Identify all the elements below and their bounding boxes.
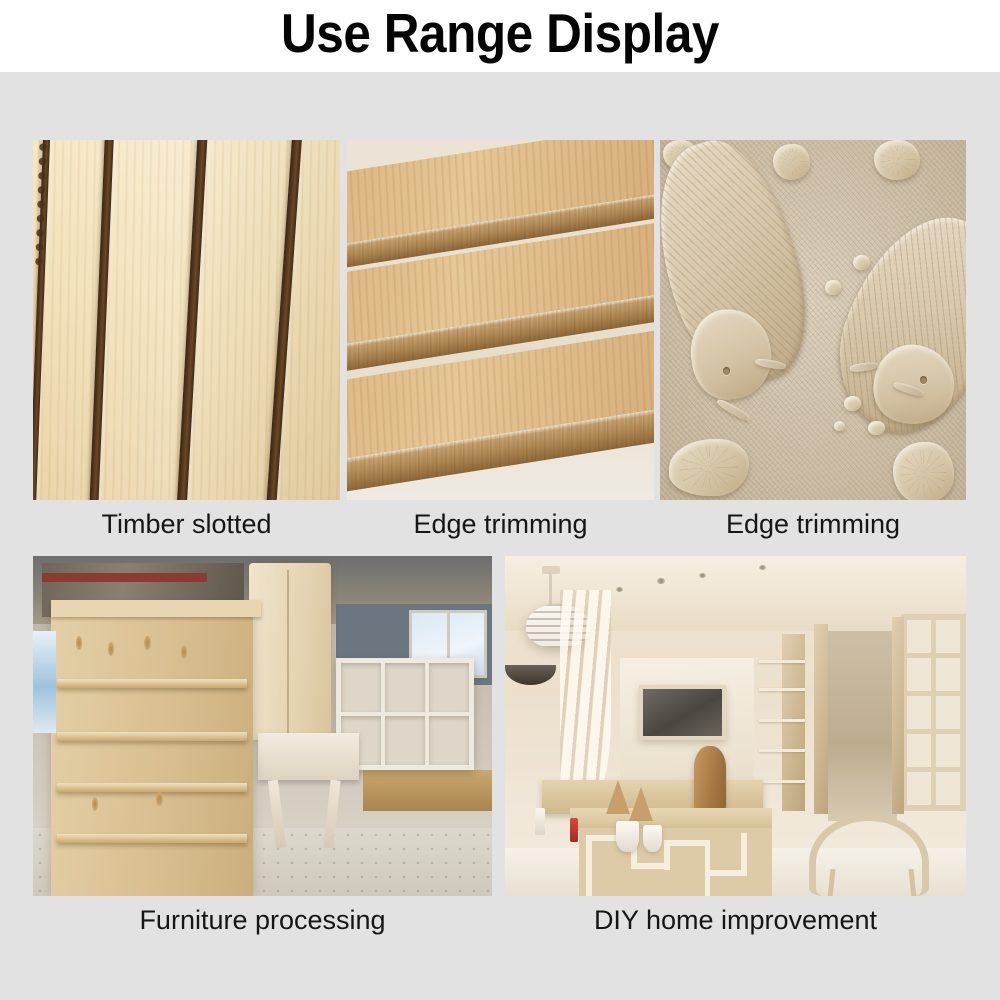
lattice-pane bbox=[936, 620, 960, 653]
ceiling-downlight bbox=[759, 565, 766, 570]
pendant-rod bbox=[549, 570, 552, 607]
koi-relief-carving-photo bbox=[660, 140, 966, 500]
cube-cell bbox=[385, 716, 425, 765]
white-cup bbox=[616, 821, 639, 852]
hallway-recess bbox=[828, 631, 897, 821]
lattice-pane bbox=[936, 734, 960, 767]
wood-column bbox=[892, 617, 904, 814]
wood-knot bbox=[144, 636, 150, 650]
lattice-pane bbox=[936, 772, 960, 805]
greek-key-stroke bbox=[741, 833, 747, 875]
page-title: Use Range Display bbox=[50, 0, 950, 66]
gallery-item-timber-slotted[interactable]: Timber slotted bbox=[33, 140, 340, 500]
cube-cell bbox=[429, 716, 469, 765]
wood-column bbox=[814, 624, 828, 814]
lattice-pane bbox=[936, 658, 960, 691]
work-table bbox=[363, 770, 492, 811]
cube-cell bbox=[385, 663, 425, 712]
greek-key-stroke bbox=[664, 840, 710, 846]
bookshelf-shelf bbox=[57, 783, 247, 792]
display-shelf bbox=[759, 688, 805, 691]
lattice-pane bbox=[907, 696, 931, 729]
furniture-workshop-photo bbox=[33, 556, 492, 896]
dome-pendant-lamp bbox=[505, 665, 556, 685]
lattice-pane bbox=[936, 696, 960, 729]
stacked-plywood-panels-photo bbox=[347, 140, 654, 500]
header-bar: Use Range Display bbox=[0, 0, 1000, 72]
bubble-carving bbox=[825, 280, 840, 294]
bubble-carving bbox=[853, 255, 870, 270]
red-bottle bbox=[570, 818, 578, 842]
gallery-caption: Furniture processing bbox=[33, 904, 492, 936]
grooved-timber-panel-photo bbox=[33, 140, 340, 500]
white-bottle bbox=[535, 808, 545, 835]
gallery-caption: Edge trimming bbox=[660, 508, 966, 540]
wood-knot bbox=[92, 797, 98, 811]
blue-packaging-box bbox=[33, 631, 56, 733]
ceiling-downlight bbox=[657, 578, 664, 583]
bookshelf-shelf bbox=[57, 679, 247, 688]
gallery-item-diy-home-improvement[interactable]: DIY home improvement bbox=[505, 556, 966, 896]
greek-key-stroke bbox=[705, 840, 711, 896]
wood-knot bbox=[156, 792, 162, 806]
lotus-leaf-carving bbox=[669, 439, 749, 497]
lotus-leaf-carving bbox=[874, 140, 920, 180]
display-shelf bbox=[759, 719, 805, 722]
greek-key-panel bbox=[579, 828, 773, 896]
greek-key-stroke bbox=[586, 835, 592, 896]
lotus-leaf-carving bbox=[893, 442, 954, 500]
gallery-caption: Edge trimming bbox=[347, 508, 654, 540]
gallery-caption: Timber slotted bbox=[33, 508, 340, 540]
white-cup bbox=[643, 825, 661, 852]
cube-cell bbox=[429, 663, 469, 712]
ceiling-downlight bbox=[616, 587, 623, 592]
wood-knot bbox=[76, 636, 82, 650]
use-range-gallery: Timber slotted Edge trimming bbox=[0, 72, 1000, 1000]
lattice-pane bbox=[907, 658, 931, 691]
bookshelf-shelf bbox=[57, 732, 247, 741]
gallery-item-furniture-processing[interactable]: Furniture processing bbox=[33, 556, 492, 896]
display-shelf bbox=[759, 660, 805, 663]
bookshelf-shelf bbox=[57, 834, 247, 843]
lattice-pane bbox=[907, 620, 931, 653]
lotus-leaf-carving bbox=[773, 144, 810, 180]
bubble-carving bbox=[868, 421, 885, 435]
pine-bookshelf bbox=[51, 614, 253, 896]
sawhorse-workpiece bbox=[258, 733, 359, 781]
gallery-item-edge-trimming-relief[interactable]: Edge trimming bbox=[660, 140, 966, 500]
lattice-pane bbox=[907, 734, 931, 767]
wooden-cone-ornament bbox=[606, 780, 630, 814]
sheer-curtain bbox=[560, 590, 611, 801]
gallery-item-edge-trimming-plywood[interactable]: Edge trimming bbox=[347, 140, 654, 500]
product-info-page: Use Range Display Timber slotted bbox=[0, 0, 1000, 1000]
wood-knot bbox=[108, 642, 114, 656]
lattice-pane bbox=[907, 772, 931, 805]
wall-mounted-tv bbox=[639, 685, 727, 739]
gallery-caption: DIY home improvement bbox=[505, 904, 966, 936]
wooden-cone-ornament bbox=[629, 787, 653, 821]
koi-eye bbox=[723, 367, 730, 375]
display-shelf-unit bbox=[759, 651, 805, 804]
pine-wardrobe bbox=[249, 563, 332, 740]
cube-cell bbox=[341, 663, 381, 712]
display-shelf bbox=[759, 749, 805, 752]
wood-knot bbox=[181, 645, 187, 659]
display-shelf bbox=[759, 780, 805, 783]
beige-living-room-interior-photo bbox=[505, 556, 966, 896]
lattice-screen-partition bbox=[901, 614, 966, 811]
red-steel-beam bbox=[42, 573, 207, 582]
